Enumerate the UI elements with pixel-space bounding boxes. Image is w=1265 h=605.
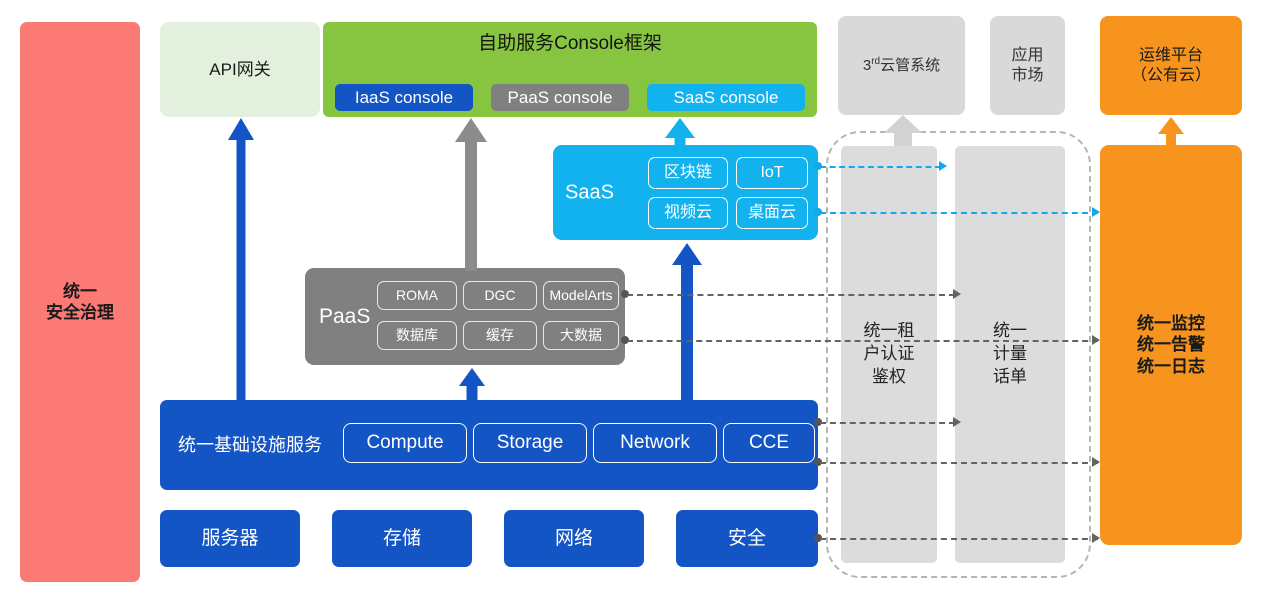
paas-chip-modelarts[interactable]: ModelArts (543, 281, 619, 310)
connector-line-paas-to-auth (627, 294, 955, 296)
unified-infrastructure-label: 统一基础设施服务 (178, 434, 322, 457)
resource-box-security[interactable]: 安全 (676, 510, 818, 567)
infra-chip-compute[interactable]: Compute (343, 423, 467, 463)
arrow-shared-to-third-party (884, 115, 922, 143)
connector-line-infra-to-ops (820, 462, 1098, 464)
unified-tenant-auth-label: 统一租 户认证 鉴权 (864, 320, 915, 389)
resource-label-server: 服务器 (201, 527, 258, 551)
app-market-box: 应用 市场 (990, 16, 1065, 115)
third-party-label: 3rd云管系统 (863, 56, 940, 76)
resource-label-network: 网络 (555, 527, 593, 551)
arrow-paas-to-console (455, 118, 487, 270)
console-framework-title: 自助服务Console框架 (323, 32, 817, 56)
connector-arrowhead-saas-to-ops (1092, 207, 1100, 217)
security-governance-label: 统一 安全治理 (46, 281, 114, 324)
architecture-diagram: 统一 安全治理 API网关 自助服务Console框架 IaaS console… (0, 0, 1265, 605)
connector-arrowhead-paas-to-auth (953, 289, 961, 299)
connector-arrowhead-paas-to-ops (1092, 335, 1100, 345)
saas-panel: SaaS 区块链 IoT 视频云 桌面云 (553, 145, 818, 240)
connector-line-saas-to-auth (820, 166, 941, 168)
paas-chip-database[interactable]: 数据库 (377, 321, 457, 350)
connector-arrowhead-infra-to-ops (1092, 457, 1100, 467)
third-party-cloud-mgmt-box: 3rd云管系统 (838, 16, 965, 115)
unified-infrastructure-panel: 统一基础设施服务 Compute Storage Network CCE (160, 400, 818, 490)
connector-line-paas-to-ops (627, 340, 1098, 342)
paas-panel: PaaS ROMA DGC ModelArts 数据库 缓存 大数据 (305, 268, 625, 365)
resource-box-server[interactable]: 服务器 (160, 510, 300, 567)
unified-tenant-auth-column: 统一租 户认证 鉴权 (841, 146, 937, 563)
saas-chip-blockchain[interactable]: 区块链 (648, 157, 728, 189)
paas-chip-bigdata[interactable]: 大数据 (543, 321, 619, 350)
infra-chip-storage[interactable]: Storage (473, 423, 587, 463)
arrow-infra-to-paas (459, 368, 485, 402)
connector-line-saas-to-ops (820, 212, 1098, 214)
arrow-saas-to-console (665, 118, 695, 148)
connector-line-resource-to-ops (820, 538, 1098, 540)
saas-chip-desktop-cloud[interactable]: 桌面云 (736, 197, 808, 229)
api-gateway-box: API网关 (160, 22, 320, 117)
connector-arrowhead-infra-to-auth (953, 417, 961, 427)
unified-metering-column: 统一 计量 话单 (955, 146, 1065, 563)
app-market-label: 应用 市场 (1011, 46, 1043, 86)
paas-chip-cache[interactable]: 缓存 (463, 321, 537, 350)
security-governance-panel: 统一 安全治理 (20, 22, 140, 582)
resource-box-network[interactable]: 网络 (504, 510, 644, 567)
ops-platform-body-box: 统一监控 统一告警 统一日志 (1100, 145, 1242, 545)
saas-chip-iot[interactable]: IoT (736, 157, 808, 189)
infra-chip-cce[interactable]: CCE (723, 423, 815, 463)
arrow-ops-body-to-head (1158, 117, 1184, 147)
ops-platform-header-box: 运维平台 （公有云） (1100, 16, 1242, 115)
console-chip-saas[interactable]: SaaS console (647, 84, 805, 111)
ops-platform-body-label: 统一监控 统一告警 统一日志 (1137, 313, 1205, 377)
paas-chip-roma[interactable]: ROMA (377, 281, 457, 310)
saas-label: SaaS (565, 180, 614, 205)
arrow-infra-to-saas (672, 243, 702, 403)
saas-chip-video-cloud[interactable]: 视频云 (648, 197, 728, 229)
resource-box-storage[interactable]: 存储 (332, 510, 472, 567)
paas-chip-dgc[interactable]: DGC (463, 281, 537, 310)
connector-line-infra-to-auth (820, 422, 955, 424)
console-chip-paas[interactable]: PaaS console (491, 84, 629, 111)
resource-label-storage: 存储 (383, 527, 421, 551)
connector-arrowhead-saas-to-auth (939, 161, 947, 171)
resource-label-security: 安全 (728, 527, 766, 551)
ops-platform-header-label: 运维平台 （公有云） (1131, 46, 1211, 86)
connector-arrowhead-resource-to-ops (1092, 533, 1100, 543)
console-framework-panel: 自助服务Console框架 IaaS console PaaS console … (323, 22, 817, 117)
api-gateway-label: API网关 (209, 59, 270, 80)
unified-metering-label: 统一 计量 话单 (993, 320, 1027, 389)
infra-chip-network[interactable]: Network (593, 423, 717, 463)
paas-label: PaaS (319, 303, 370, 329)
arrow-infra-to-api-gateway (228, 118, 254, 402)
console-chip-iaas[interactable]: IaaS console (335, 84, 473, 111)
